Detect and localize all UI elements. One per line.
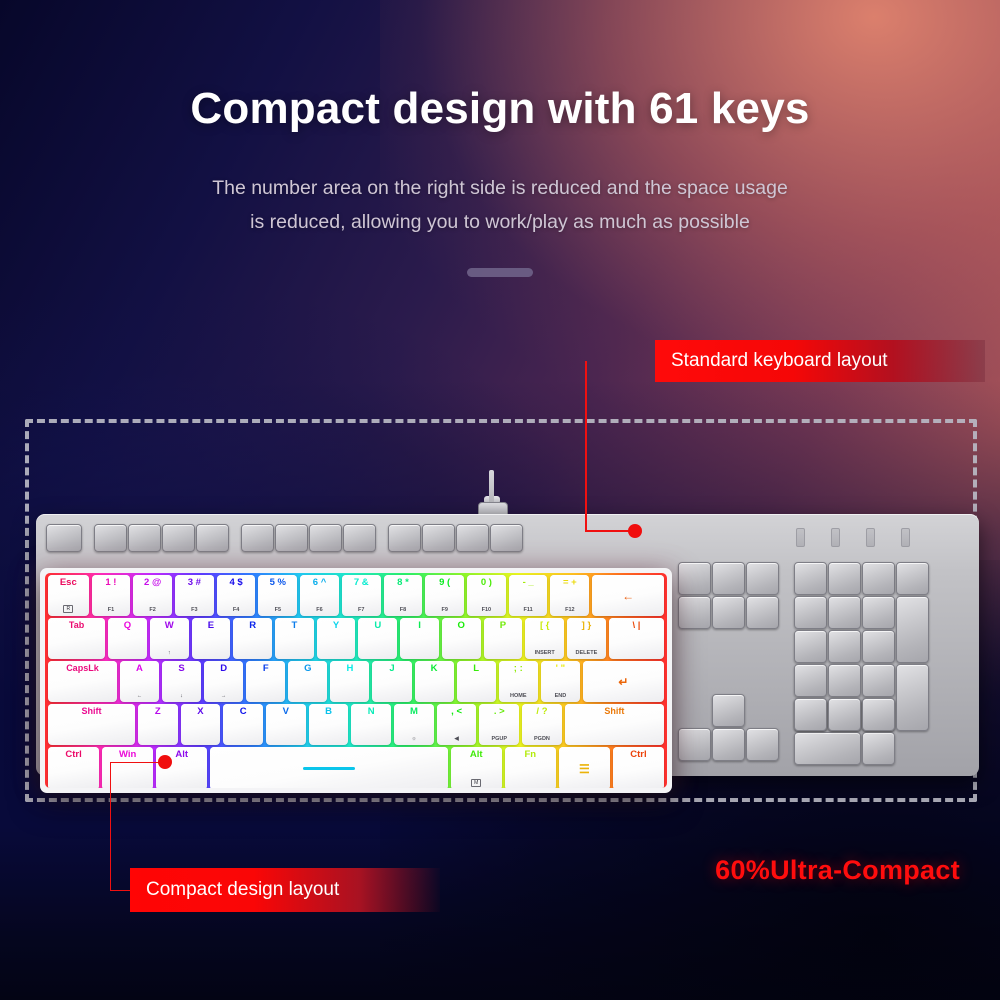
key-sublegend: END xyxy=(555,694,567,700)
key-legend: U xyxy=(374,621,381,631)
key-5[interactable]: 5 %F5 xyxy=(258,575,297,616)
key-g[interactable]: G xyxy=(288,661,327,702)
keyboard-row: CtrlWinAltAltMFn☰Ctrl xyxy=(45,747,667,788)
page-subtitle: The number area on the right side is red… xyxy=(0,172,1000,239)
key-sublegend: ☼ xyxy=(411,737,416,743)
key-legend: C xyxy=(240,707,247,717)
key-v[interactable]: V xyxy=(266,704,306,745)
gray-key-function[interactable] xyxy=(196,524,229,552)
key-legend: Win xyxy=(119,750,136,760)
key-0[interactable]: 0 )F10 xyxy=(467,575,506,616)
keyboard-row: EscR1 !F12 @F23 #F34 $F45 %F56 ^F67 &F78… xyxy=(45,575,667,616)
key-[interactable]: \ | xyxy=(609,618,664,659)
key-legend: X xyxy=(197,707,203,717)
key-sublegend: ↑ xyxy=(168,651,171,657)
leader-line-bottom-vertical xyxy=(110,762,111,891)
key-legend: / ? xyxy=(536,707,547,717)
key-sublegend: PGUP xyxy=(491,737,507,743)
key-legend: Shift xyxy=(604,707,624,716)
key-legend: T xyxy=(291,621,297,631)
key-a[interactable]: A← xyxy=(120,661,159,702)
key-b[interactable]: B xyxy=(309,704,349,745)
gray-key-function[interactable] xyxy=(162,524,195,552)
gray-key-numpad-enter[interactable] xyxy=(896,664,929,731)
key-[interactable]: ☰ xyxy=(559,747,610,788)
key-sublegend: F5 xyxy=(275,608,281,614)
gray-key-numpad[interactable] xyxy=(862,630,895,663)
gray-key-function[interactable] xyxy=(241,524,274,552)
key-capslk[interactable]: CapsLk xyxy=(48,661,117,702)
key-legend: Tab xyxy=(69,621,84,630)
key-w[interactable]: W↑ xyxy=(150,618,189,659)
key-e[interactable]: E xyxy=(192,618,231,659)
key-legend: Y xyxy=(333,621,339,631)
key-legend: 7 & xyxy=(354,578,369,588)
key-s[interactable]: S↓ xyxy=(162,661,201,702)
gray-key-function[interactable] xyxy=(456,524,489,552)
key-alt[interactable]: AltM xyxy=(451,747,502,788)
key-legend: Ctrl xyxy=(65,750,81,760)
key-o[interactable]: O xyxy=(442,618,481,659)
key-sublegend: R xyxy=(63,605,73,613)
key-q[interactable]: Q xyxy=(108,618,147,659)
gray-key-nav[interactable] xyxy=(678,562,711,595)
gray-key-function[interactable] xyxy=(309,524,342,552)
leader-line-bottom-horizontal-2 xyxy=(110,762,165,763)
key-sublegend: F8 xyxy=(400,608,406,614)
key-legend: Fn xyxy=(524,750,536,760)
gray-key-nav[interactable] xyxy=(746,596,779,629)
key-sublegend: ↓ xyxy=(180,694,183,700)
gray-key-numpad[interactable] xyxy=(794,562,827,595)
gray-key-function[interactable] xyxy=(490,524,523,552)
leader-line-bottom-horizontal xyxy=(110,890,132,891)
key-legend: , < xyxy=(451,707,462,717)
key-legend: I xyxy=(418,621,421,631)
keyboard-row: TabQW↑ERTYUIOP[ {INSERT] }DELETE\ | xyxy=(45,618,667,659)
key-legend: Ctrl xyxy=(630,750,646,760)
gray-key-arrow-right[interactable] xyxy=(746,728,779,761)
key-[interactable]: ↵ xyxy=(583,661,664,702)
key-legend: H xyxy=(346,664,353,674)
page-title: Compact design with 61 keys xyxy=(0,84,1000,134)
gray-key-numpad[interactable] xyxy=(794,664,827,697)
key-[interactable]: ] }DELETE xyxy=(567,618,606,659)
key-legend: ↵ xyxy=(618,676,628,688)
key-legend: 3 # xyxy=(188,578,201,588)
key-legend: B xyxy=(325,707,332,717)
key-sublegend: F10 xyxy=(482,608,491,614)
key-1[interactable]: 1 !F1 xyxy=(92,575,131,616)
key-[interactable]: , <◀ xyxy=(437,704,477,745)
key-legend: Esc xyxy=(60,578,77,588)
key-x[interactable]: X xyxy=(181,704,221,745)
key-legend: K xyxy=(431,664,438,674)
gray-key-esc[interactable] xyxy=(46,524,82,552)
gray-key-nav[interactable] xyxy=(746,562,779,595)
key-l[interactable]: L xyxy=(457,661,496,702)
key-c[interactable]: C xyxy=(223,704,263,745)
gray-key-function[interactable] xyxy=(275,524,308,552)
key-legend: ; : xyxy=(514,664,523,674)
key-legend: G xyxy=(304,664,311,674)
key-z[interactable]: Z xyxy=(138,704,178,745)
key-sublegend: INSERT xyxy=(535,651,555,657)
key-fn[interactable]: Fn xyxy=(505,747,556,788)
key-[interactable]: [ {INSERT xyxy=(525,618,564,659)
key-d[interactable]: D→ xyxy=(204,661,243,702)
key-6[interactable]: 6 ^F6 xyxy=(300,575,339,616)
key-legend: ☰ xyxy=(579,763,590,775)
key-sublegend: F12 xyxy=(565,608,574,614)
key-9[interactable]: 9 (F9 xyxy=(425,575,464,616)
key-legend: Q xyxy=(124,621,131,631)
gray-key-arrow-up[interactable] xyxy=(712,694,745,727)
title-divider xyxy=(467,268,533,277)
key-[interactable]: . >PGUP xyxy=(479,704,519,745)
ultra-compact-badge: 60%Ultra-Compact xyxy=(715,855,960,886)
key-legend: \ | xyxy=(632,621,640,631)
keyboard-row: ShiftZXCVBNM☼, <◀. >PGUP/ ?PGDNShift xyxy=(45,704,667,745)
indicator-led xyxy=(866,528,875,547)
key-sublegend: F9 xyxy=(441,608,447,614)
gray-key-numpad[interactable] xyxy=(862,596,895,629)
key-4[interactable]: 4 $F4 xyxy=(217,575,256,616)
gray-key-numpad-zero[interactable] xyxy=(794,732,861,765)
key-shift[interactable]: Shift xyxy=(565,704,664,745)
key-legend: [ { xyxy=(540,621,550,631)
key-legend: 4 $ xyxy=(229,578,242,588)
key-legend: E xyxy=(208,621,214,631)
gray-key-numpad[interactable] xyxy=(828,698,861,731)
key-[interactable]: ← xyxy=(592,575,664,616)
key-sublegend: F4 xyxy=(233,608,239,614)
key-legend: F xyxy=(263,664,269,674)
key-legend: 1 ! xyxy=(105,578,116,588)
key-ctrl[interactable]: Ctrl xyxy=(48,747,99,788)
key-legend: 5 % xyxy=(270,578,286,588)
key-i[interactable]: I xyxy=(400,618,439,659)
key-h[interactable]: H xyxy=(330,661,369,702)
gray-key-function[interactable] xyxy=(388,524,421,552)
gray-key-numpad[interactable] xyxy=(794,630,827,663)
key-p[interactable]: P xyxy=(484,618,523,659)
gray-key-numpad[interactable] xyxy=(862,698,895,731)
key-legend: - _ xyxy=(523,578,534,588)
key-legend: 9 ( xyxy=(439,578,450,588)
gray-key-function[interactable] xyxy=(422,524,455,552)
key-sublegend: M xyxy=(471,779,481,787)
key-legend: L xyxy=(473,664,479,674)
key-legend: . > xyxy=(494,707,505,717)
key-f[interactable]: F xyxy=(246,661,285,702)
key-n[interactable]: N xyxy=(351,704,391,745)
key-legend: = + xyxy=(563,578,577,588)
spacebar-indicator xyxy=(303,767,355,770)
key-legend: D xyxy=(220,664,227,674)
gray-key-nav[interactable] xyxy=(678,596,711,629)
key-legend: P xyxy=(500,621,506,631)
gray-key-function[interactable] xyxy=(128,524,161,552)
key-y[interactable]: Y xyxy=(317,618,356,659)
gray-key-numpad[interactable] xyxy=(828,630,861,663)
gray-key-function[interactable] xyxy=(94,524,127,552)
gray-key-numpad[interactable] xyxy=(794,596,827,629)
keyboard-row: CapsLkA←S↓D→FGHJKL; :HOME' "END↵ xyxy=(45,661,667,702)
callout-compact-design-layout: Compact design layout xyxy=(130,868,440,912)
gray-key-numpad[interactable] xyxy=(828,664,861,697)
key-t[interactable]: T xyxy=(275,618,314,659)
gray-key-numpad[interactable] xyxy=(896,562,929,595)
key-[interactable]: ' "END xyxy=(541,661,580,702)
key-legend: ' " xyxy=(556,664,565,674)
key-[interactable]: / ?PGDN xyxy=(522,704,562,745)
key-sublegend: ◀ xyxy=(454,737,458,743)
key-legend: Shift xyxy=(81,707,101,716)
gray-key-numpad[interactable] xyxy=(794,698,827,731)
key-legend: R xyxy=(249,621,256,631)
key-tab[interactable]: Tab xyxy=(48,618,105,659)
key-legend: S xyxy=(178,664,184,674)
key-sublegend: PGDN xyxy=(534,737,550,743)
key-legend: V xyxy=(283,707,289,717)
key-space[interactable] xyxy=(210,747,447,788)
key-legend: W xyxy=(165,621,174,631)
gray-key-numpad[interactable] xyxy=(828,562,861,595)
key-legend: Z xyxy=(155,707,161,717)
key-sublegend: F2 xyxy=(149,608,155,614)
key-legend: 2 @ xyxy=(144,578,161,588)
key-[interactable]: - _F11 xyxy=(509,575,548,616)
callout-dot-top xyxy=(628,524,642,538)
rgb-backlight-plate: EscR1 !F12 @F23 #F34 $F45 %F56 ^F67 &F78… xyxy=(45,573,667,788)
key-sublegend: → xyxy=(221,694,227,700)
key-legend: Alt xyxy=(470,750,483,760)
key-legend: N xyxy=(368,707,375,717)
key-8[interactable]: 8 *F8 xyxy=(384,575,423,616)
key-sublegend: F3 xyxy=(191,608,197,614)
key-legend: 6 ^ xyxy=(313,578,326,588)
key-r[interactable]: R xyxy=(233,618,272,659)
callout-standard-keyboard-layout: Standard keyboard layout xyxy=(655,340,985,382)
key-legend: 0 ) xyxy=(481,578,492,588)
gray-key-arrow-down[interactable] xyxy=(712,728,745,761)
key-j[interactable]: J xyxy=(372,661,411,702)
key-legend: Alt xyxy=(175,750,188,760)
subtitle-line-1: The number area on the right side is red… xyxy=(212,177,788,199)
key-sublegend: ← xyxy=(137,694,143,700)
key-legend: CapsLk xyxy=(66,664,99,673)
gray-key-arrow-left[interactable] xyxy=(678,728,711,761)
key-legend: ] } xyxy=(582,621,592,631)
compact-60-keyboard: EscR1 !F12 @F23 #F34 $F45 %F56 ^F67 &F78… xyxy=(40,568,672,793)
gray-key-numpad-plus[interactable] xyxy=(896,596,929,663)
key-sublegend: F11 xyxy=(524,608,533,614)
key-sublegend: HOME xyxy=(510,694,527,700)
key-legend: O xyxy=(458,621,465,631)
leader-line-top-vertical xyxy=(585,361,587,531)
key-ctrl[interactable]: Ctrl xyxy=(613,747,664,788)
key-[interactable]: = +F12 xyxy=(550,575,589,616)
key-[interactable]: ; :HOME xyxy=(499,661,538,702)
key-sublegend: F6 xyxy=(316,608,322,614)
key-esc[interactable]: EscR xyxy=(48,575,89,616)
gray-key-nav[interactable] xyxy=(712,596,745,629)
key-legend: J xyxy=(389,664,394,674)
key-3[interactable]: 3 #F3 xyxy=(175,575,214,616)
gray-key-function[interactable] xyxy=(343,524,376,552)
key-k[interactable]: K xyxy=(415,661,454,702)
key-m[interactable]: M☼ xyxy=(394,704,434,745)
key-7[interactable]: 7 &F7 xyxy=(342,575,381,616)
gray-key-numpad[interactable] xyxy=(862,562,895,595)
gray-key-numpad[interactable] xyxy=(828,596,861,629)
key-shift[interactable]: Shift xyxy=(48,704,135,745)
key-legend: A xyxy=(136,664,143,674)
key-legend: ← xyxy=(622,590,634,602)
gray-key-numpad[interactable] xyxy=(862,664,895,697)
indicator-led xyxy=(796,528,805,547)
callout-dot-bottom xyxy=(158,755,172,769)
key-u[interactable]: U xyxy=(358,618,397,659)
subtitle-line-2: is reduced, allowing you to work/play as… xyxy=(250,211,750,233)
indicator-led xyxy=(901,528,910,547)
key-sublegend: F7 xyxy=(358,608,364,614)
key-legend: 8 * xyxy=(397,578,409,588)
gray-key-numpad-dot[interactable] xyxy=(862,732,895,765)
product-banner: Compact design with 61 keys The number a… xyxy=(0,0,1000,1000)
key-legend: M xyxy=(410,707,418,717)
key-sublegend: F1 xyxy=(108,608,114,614)
key-2[interactable]: 2 @F2 xyxy=(133,575,172,616)
key-sublegend: DELETE xyxy=(576,651,598,657)
gray-key-nav[interactable] xyxy=(712,562,745,595)
indicator-led xyxy=(831,528,840,547)
